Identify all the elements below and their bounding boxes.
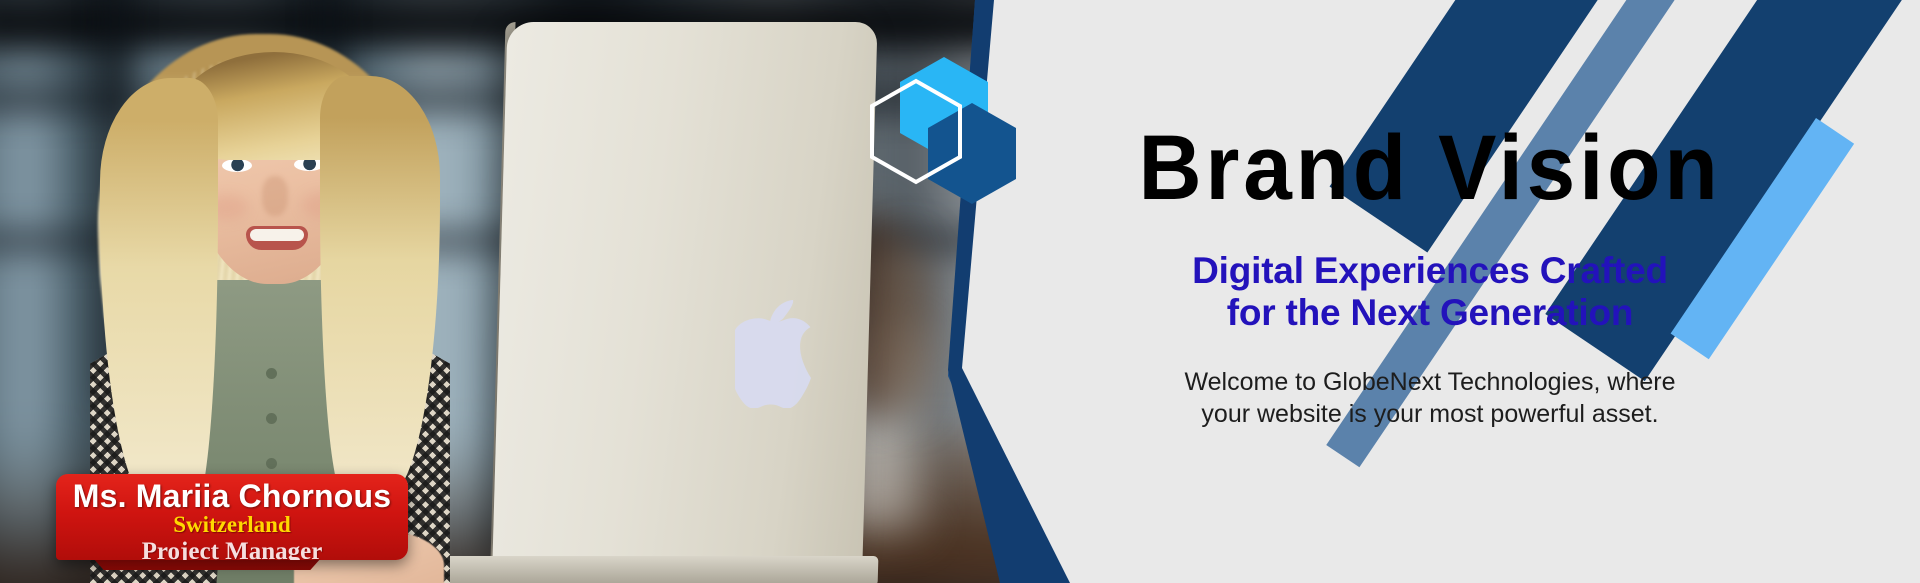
panel-copy: Brand Vision Digital Experiences Crafted… xyxy=(1080,122,1780,430)
background-person-b xyxy=(880,236,936,416)
subheadline: Digital Experiences Crafted for the Next… xyxy=(1080,250,1780,334)
body-line-2: your website is your most powerful asset… xyxy=(1080,398,1780,430)
subheadline-line-1: Digital Experiences Crafted xyxy=(1080,250,1780,292)
nose xyxy=(262,176,288,216)
badge-role: Project Manager xyxy=(56,538,408,560)
badge-country: Switzerland xyxy=(56,512,408,538)
apple-logo-icon xyxy=(735,300,827,408)
body-text: Welcome to GlobeNext Technologies, where… xyxy=(1080,366,1780,430)
subheadline-line-2: for the Next Generation xyxy=(1080,292,1780,334)
mouth xyxy=(246,226,308,250)
name-badge: Ms. Mariia Chornous Switzerland Project … xyxy=(56,474,408,560)
body-line-1: Welcome to GlobeNext Technologies, where xyxy=(1080,366,1780,398)
page-title: Brand Vision xyxy=(1098,122,1763,216)
brand-vision-banner: Brand Vision Digital Experiences Crafted… xyxy=(0,0,1920,583)
badge-person-name: Ms. Mariia Chornous xyxy=(56,474,408,512)
laptop-lid xyxy=(492,22,877,562)
hexagon-cube-logo-icon xyxy=(856,44,1044,224)
eye-left xyxy=(222,159,252,172)
laptop-base xyxy=(408,556,879,583)
